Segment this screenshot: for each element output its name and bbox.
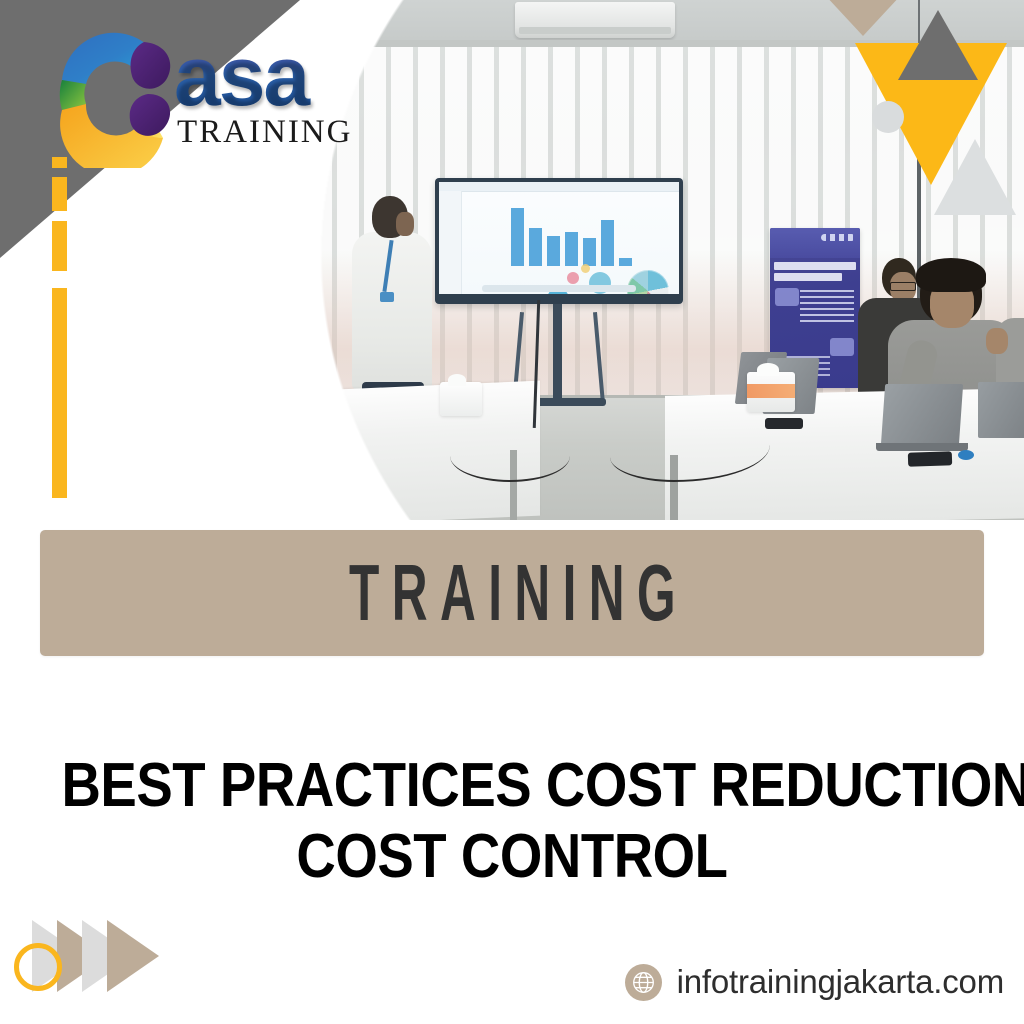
poster-title: BEST PRACTICES COST REDUCTION COST CONTR… [0, 755, 1024, 897]
accent-bar [52, 288, 67, 498]
ring-decor [14, 943, 62, 991]
screen-bar-chart [511, 208, 632, 266]
title-line-1: BEST PRACTICES COST REDUCTION [61, 755, 962, 826]
accent-dash [52, 177, 67, 211]
training-banner-label: TRAINING [336, 553, 687, 633]
globe-icon [625, 964, 662, 1001]
logo-wordmark: asa [174, 40, 352, 112]
tissue-box [747, 372, 795, 412]
website-footer: infotrainingjakarta.com [625, 963, 1004, 1001]
logo-tagline: TRAINING [177, 114, 352, 151]
accent-dash [52, 221, 67, 271]
mouse [958, 450, 974, 460]
tissue-box [440, 382, 482, 416]
training-poster: asa TRAINING TRAINING BEST PRACTICES COS… [0, 0, 1024, 1024]
chevron [107, 920, 159, 992]
laptop [881, 384, 963, 446]
smartphone [765, 418, 803, 429]
chevron-decor [32, 920, 217, 992]
title-line-2: COST CONTROL [61, 826, 962, 897]
air-conditioner [515, 2, 675, 38]
casa-training-logo: asa TRAINING [36, 18, 352, 168]
training-banner: TRAINING [40, 530, 984, 656]
gray-circle-decor [872, 101, 904, 133]
website-url: infotrainingjakarta.com [677, 963, 1004, 1001]
presentation-display [435, 178, 683, 304]
presenter [352, 232, 432, 390]
smartphone [908, 451, 952, 467]
laptop [978, 382, 1024, 438]
